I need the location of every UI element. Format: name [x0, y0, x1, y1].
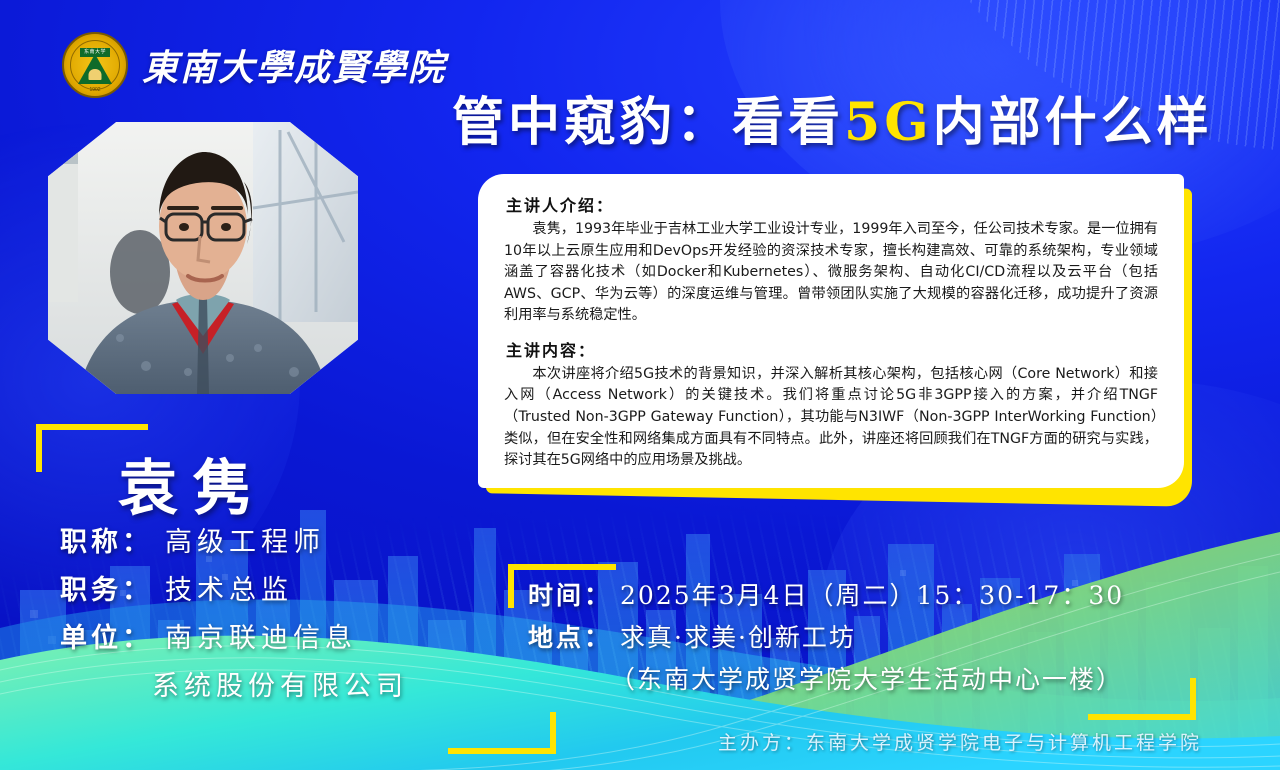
- university-crest-icon: 东南大学 1902: [62, 32, 128, 98]
- event-time-row: 时间： 2025年3月4日（周二）15：30-17：30: [528, 576, 1228, 612]
- event-details: 时间： 2025年3月4日（周二）15：30-17：30 地点： 求真·求美·创…: [528, 576, 1228, 696]
- speaker-field-title-value: 高级工程师: [165, 520, 325, 559]
- speaker-field-title-label: 职称：: [60, 520, 153, 559]
- speaker-field-company-label: 单位：: [60, 616, 153, 655]
- content-card: 主讲人介绍： 袁隽，1993年毕业于吉林工业大学工业设计专业，1999年入司至今…: [478, 174, 1184, 488]
- speaker-field-company-value-line2: 系统股份有限公司: [152, 664, 480, 703]
- event-time-value: 2025年3月4日（周二）15：30-17：30: [620, 576, 1124, 612]
- section-body-speaker-intro: 袁隽，1993年毕业于吉林工业大学工业设计专业，1999年入司至今，任公司技术专…: [504, 219, 1158, 327]
- speaker-field-company-value: 南京联迪信息: [165, 616, 357, 655]
- section-heading-speaker-intro: 主讲人介绍：: [506, 192, 1158, 216]
- speaker-field-position: 职务： 技术总监: [60, 568, 480, 607]
- speaker-portrait-icon: [48, 122, 358, 394]
- event-time-label: 时间：: [528, 576, 612, 612]
- speaker-photo: [48, 122, 358, 394]
- title-highlight-5g: 5G: [844, 92, 933, 153]
- section-heading-lecture-content: 主讲内容：: [506, 337, 1158, 361]
- title-part-2: 内部什么样: [933, 92, 1213, 153]
- speaker-details: 职称： 高级工程师 职务： 技术总监 单位： 南京联迪信息 系统股份有限公司: [60, 520, 480, 703]
- university-logo: 东南大学 1902 東南大學成賢學院: [62, 32, 446, 98]
- crest-bottom-text: 1902: [64, 87, 126, 93]
- speaker-field-title: 职称： 高级工程师: [60, 520, 480, 559]
- speaker-field-position-label: 职务：: [60, 568, 153, 607]
- title-part-1: 管中窥豹：看看: [452, 92, 844, 153]
- speaker-field-company: 单位： 南京联迪信息: [60, 616, 480, 655]
- lecture-poster: 东南大学 1902 東南大學成賢學院: [0, 0, 1280, 770]
- event-place-value: 求真·求美·创新工坊: [620, 618, 856, 654]
- corner-bracket-event-bottom-left: [448, 712, 556, 754]
- event-place-value-line2: （东南大学成贤学院大学生活动中心一楼）: [610, 660, 1228, 696]
- speaker-field-position-value: 技术总监: [165, 568, 293, 607]
- event-place-label: 地点：: [528, 618, 612, 654]
- speaker-name: 袁隽: [118, 440, 266, 527]
- organizer-footer: 主办方：东南大学成贤学院电子与计算机工程学院: [718, 728, 1202, 755]
- section-body-lecture-content: 本次讲座将介绍5G技术的背景知识，并深入解析其核心架构，包括核心网（Core N…: [504, 364, 1158, 472]
- university-name: 東南大學成賢學院: [142, 39, 446, 91]
- event-place-row: 地点： 求真·求美·创新工坊: [528, 618, 1228, 654]
- page-title: 管中窥豹：看看5G内部什么样: [452, 96, 1242, 151]
